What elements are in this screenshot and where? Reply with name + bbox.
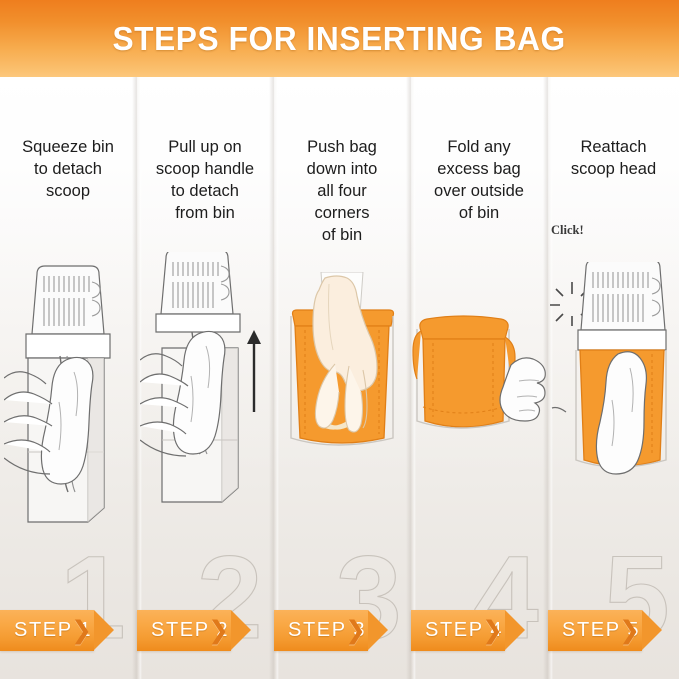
click-annotation: Click!: [551, 223, 584, 238]
chevron-right-icon: ❯: [71, 618, 92, 643]
step-banner-4[interactable]: STEP 4 ❯: [411, 610, 505, 651]
poster-title: STEPS FOR INSERTING BAG: [113, 20, 566, 58]
caption-line: Fold any: [416, 137, 542, 159]
chevron-right-icon: ❯: [345, 618, 366, 643]
caption-line: excess bag: [416, 159, 542, 181]
caption-line: scoop handle: [142, 159, 268, 181]
caption-line: down into: [279, 159, 405, 181]
step-caption-4: Fold any excess bag over outside of bin: [411, 137, 547, 225]
step-arrow-tip-icon: [231, 610, 251, 650]
caption-line: of bin: [279, 225, 405, 247]
chevron-right-icon: ❯: [619, 618, 640, 643]
caption-line: scoop head: [553, 159, 674, 181]
step-panel-1: Squeeze bin to detach scoop 1: [0, 77, 136, 679]
step-illustration-4: [411, 307, 547, 607]
caption-line: over outside: [416, 181, 542, 203]
step-illustration-5: [548, 262, 679, 562]
steps-panel-row: Squeeze bin to detach scoop 1: [0, 77, 679, 679]
step-caption-2: Pull up on scoop handle to detach from b…: [137, 137, 273, 225]
step-panel-2: Pull up on scoop handle to detach from b…: [137, 77, 273, 679]
step-banner-strip: STEP 1 ❯ STEP 2 ❯ STEP 3 ❯ STEP 4 ❯ STEP…: [0, 610, 679, 651]
instruction-poster: STEPS FOR INSERTING BAG Squeeze bin to d…: [0, 0, 679, 679]
caption-line: Squeeze bin: [5, 137, 131, 159]
step-banner-3[interactable]: STEP 3 ❯: [274, 610, 368, 651]
caption-line: of bin: [416, 203, 542, 225]
step-illustration-1: [0, 252, 136, 552]
caption-line: Pull up on: [142, 137, 268, 159]
step-banner-1[interactable]: STEP 1 ❯: [0, 610, 94, 651]
step-arrow-tip-icon: [505, 610, 525, 650]
step-panel-4: Fold any excess bag over outside of bin …: [411, 77, 547, 679]
step-banner-2[interactable]: STEP 2 ❯: [137, 610, 231, 651]
step-banner-5[interactable]: STEP 5 ❯: [548, 610, 642, 651]
step-illustration-2: [137, 252, 273, 552]
step-arrow-tip-icon: [94, 610, 114, 650]
step-caption-3: Push bag down into all four corners of b…: [274, 137, 410, 247]
caption-line: from bin: [142, 203, 268, 225]
caption-line: Push bag: [279, 137, 405, 159]
chevron-right-icon: ❯: [208, 618, 229, 643]
step-caption-1: Squeeze bin to detach scoop: [0, 137, 136, 203]
caption-line: scoop: [5, 181, 131, 203]
poster-header: STEPS FOR INSERTING BAG: [0, 0, 679, 77]
chevron-right-icon: ❯: [482, 618, 503, 643]
step-panel-5: Reattach scoop head 5 Click!: [548, 77, 679, 679]
step-panel-3: Push bag down into all four corners of b…: [274, 77, 410, 679]
step-arrow-tip-icon: [642, 610, 662, 650]
step-illustration-3: [274, 272, 410, 572]
caption-line: to detach: [142, 181, 268, 203]
caption-line: corners: [279, 203, 405, 225]
step-arrow-tip-icon: [368, 610, 388, 650]
step-caption-5: Reattach scoop head: [548, 137, 679, 181]
caption-line: to detach: [5, 159, 131, 181]
caption-line: Reattach: [553, 137, 674, 159]
up-arrow-icon: [247, 330, 261, 412]
caption-line: all four: [279, 181, 405, 203]
